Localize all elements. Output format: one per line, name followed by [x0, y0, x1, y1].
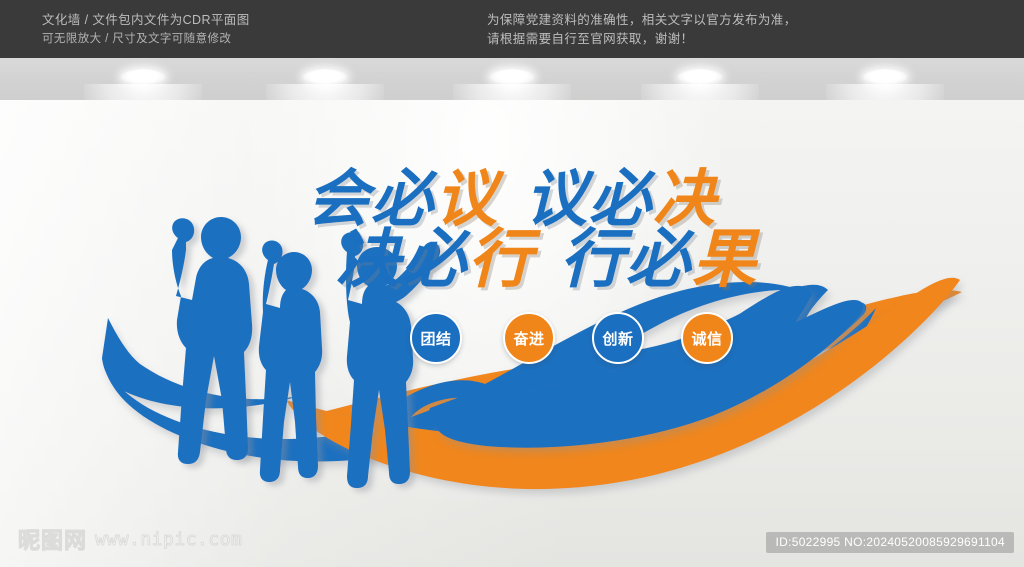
topbar-left-column: 文化墙 / 文件包内文件为CDR平面图 可无限放大 / 尺寸及文字可随意修改: [42, 11, 250, 49]
value-badge-1: 团结: [410, 312, 462, 364]
ceiling-spotlight-2: [303, 69, 347, 85]
value-badge-2: 奋进: [503, 312, 555, 364]
topbar-right-column: 为保障党建资料的准确性，相关文字以官方发布为准， 请根据需要自行至官网获取，谢谢…: [487, 11, 797, 49]
topbar-right-line-1: 为保障党建资料的准确性，相关文字以官方发布为准，: [487, 11, 797, 30]
ceiling-spotlight-1: [121, 69, 165, 85]
ceiling-spotlight-5: [863, 69, 907, 85]
topbar-left-line-2: 可无限放大 / 尺寸及文字可随意修改: [42, 30, 250, 49]
three-people-silhouette: [172, 217, 440, 488]
ceiling-spotlight-3: [490, 69, 534, 85]
value-badge-3: 创新: [592, 312, 644, 364]
topbar-right-line-2: 请根据需要自行至官网获取，谢谢！: [487, 30, 797, 49]
top-info-bar: 文化墙 / 文件包内文件为CDR平面图 可无限放大 / 尺寸及文字可随意修改 为…: [0, 0, 1024, 58]
wall-mockup-canvas: 文化墙 / 文件包内文件为CDR平面图 可无限放大 / 尺寸及文字可随意修改 为…: [0, 0, 1024, 567]
topbar-left-line-1: 文化墙 / 文件包内文件为CDR平面图: [42, 11, 250, 30]
ceiling-spotlight-4: [678, 69, 722, 85]
value-badge-4: 诚信: [681, 312, 733, 364]
